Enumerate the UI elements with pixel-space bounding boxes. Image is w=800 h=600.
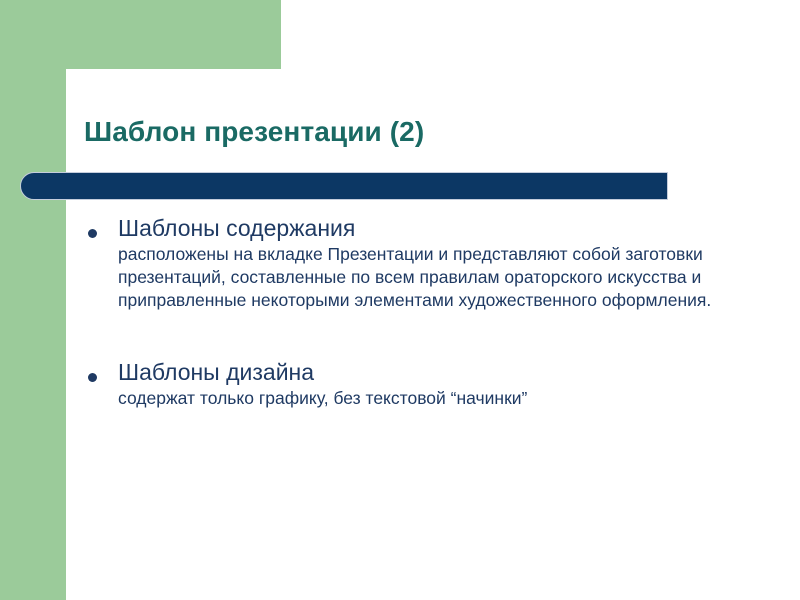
green-top-band-decoration xyxy=(0,0,281,69)
slide-title: Шаблон презентации (2) xyxy=(84,116,744,148)
bullet-dot-icon xyxy=(88,373,97,382)
green-left-strip-decoration xyxy=(0,0,66,600)
slide-body: Шаблоны содержания расположены на вкладк… xyxy=(86,214,726,410)
bullet-spacer xyxy=(86,340,726,358)
bullet-lead-text: Шаблоны содержания xyxy=(118,214,726,242)
bullet-dot-icon xyxy=(88,229,97,238)
bullet-detail-text: расположены на вкладке Презентации и пре… xyxy=(118,243,726,312)
bullet-item: Шаблоны содержания расположены на вкладк… xyxy=(86,214,726,312)
bullet-item: Шаблоны дизайна содержат только графику,… xyxy=(86,358,726,410)
title-divider-bar xyxy=(20,172,668,200)
presentation-slide: Шаблон презентации (2) Шаблоны содержани… xyxy=(0,0,800,600)
bullet-lead-text: Шаблоны дизайна xyxy=(118,358,726,386)
bullet-detail-text: содержат только графику, без текстовой “… xyxy=(118,387,726,410)
